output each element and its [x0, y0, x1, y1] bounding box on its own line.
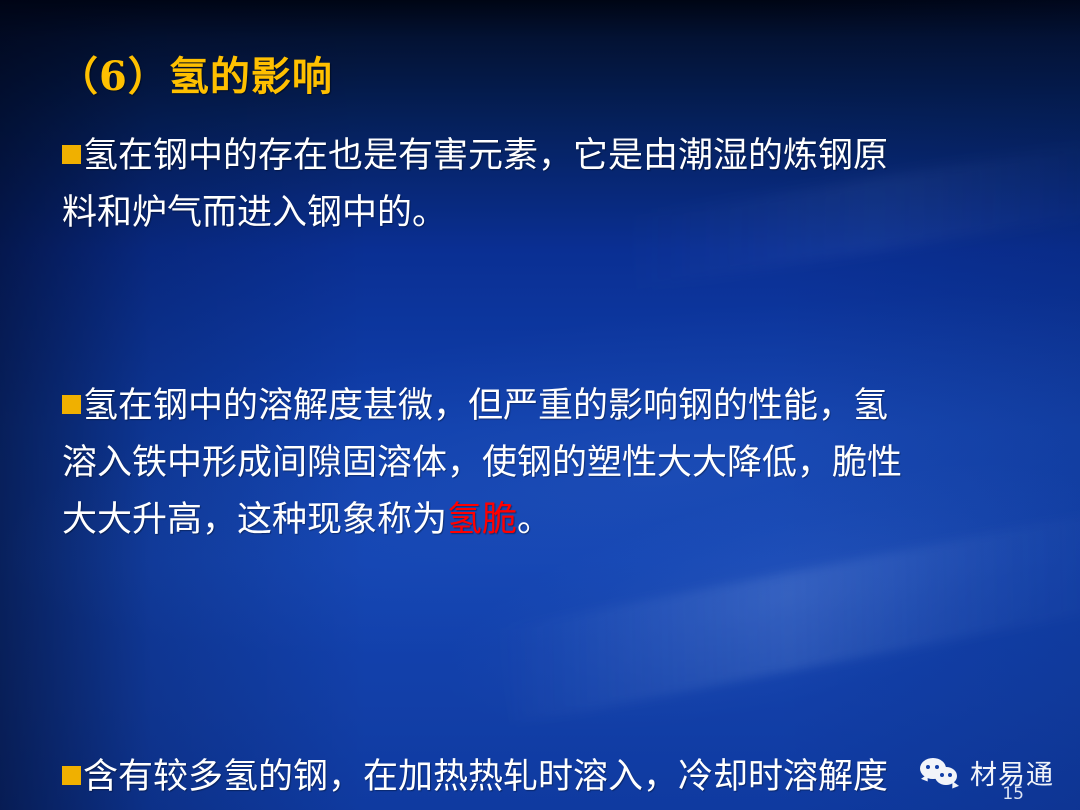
slide-canvas: （6）氢的影响 氢在钢中的存在也是有害元素，它是由潮湿的炼钢原 料和炉气而进入钢…: [0, 0, 1080, 810]
bullet-paragraph-2: 氢在钢中的溶解度甚微，但严重的影响钢的性能，氢 溶入铁中形成间隙固溶体，使钢的塑…: [62, 378, 1080, 549]
paragraph-1-line-1: 氢在钢中的存在也是有害元素，它是由潮湿的炼钢原: [62, 128, 1080, 185]
paragraph-2-line-1-text: 氢在钢中的溶解度甚微，但严重的影响钢的性能，氢: [83, 386, 888, 426]
paragraph-2-line-2-text: 溶入铁中形成间隙固溶体，使钢的塑性大大降低，脆性: [62, 443, 902, 483]
wechat-icon: [920, 758, 962, 788]
slide-title: （6）氢的影响: [58, 44, 333, 102]
paragraph-1-line-2: 料和炉气而进入钢中的。: [62, 185, 1080, 242]
paragraph-2-line-3: 大大升高，这种现象称为氢脆。: [62, 492, 1080, 549]
square-bullet-icon: [62, 145, 81, 164]
paragraph-2-line-3-text-a: 大大升高，这种现象称为: [62, 500, 447, 540]
watermark: 材易通: [920, 753, 1054, 792]
paragraph-3-line-2: 降低，析出的氢结合成氢分子，使钢的塑性大大降低，: [62, 806, 1080, 810]
page-number: 15: [1002, 784, 1024, 804]
paragraph-1-line-1-text: 氢在钢中的存在也是有害元素，它是由潮湿的炼钢原: [83, 136, 888, 176]
paragraph-2-line-3-text-b: 。: [517, 500, 552, 540]
paragraph-2-line-2: 溶入铁中形成间隙固溶体，使钢的塑性大大降低，脆性: [62, 435, 1080, 492]
paragraph-3-line-1-text: 含有较多氢的钢，在加热热轧时溶入，冷却时溶解度: [83, 757, 888, 797]
paragraph-2-line-1: 氢在钢中的溶解度甚微，但严重的影响钢的性能，氢: [62, 378, 1080, 435]
square-bullet-icon: [62, 395, 81, 414]
highlight-term-hydrogen-embrittlement: 氢脆: [447, 500, 517, 540]
paragraph-1-line-2-text: 料和炉气而进入钢中的。: [62, 193, 447, 233]
bullet-paragraph-1: 氢在钢中的存在也是有害元素，它是由潮湿的炼钢原 料和炉气而进入钢中的。: [62, 128, 1080, 242]
square-bullet-icon: [62, 766, 81, 785]
slide-content: （6）氢的影响 氢在钢中的存在也是有害元素，它是由潮湿的炼钢原 料和炉气而进入钢…: [0, 0, 1080, 810]
